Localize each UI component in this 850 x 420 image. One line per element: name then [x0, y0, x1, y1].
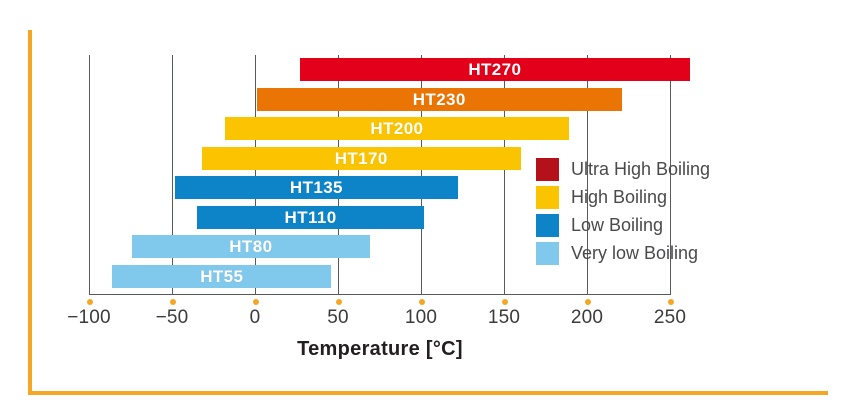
bar-ht170[interactable] [202, 147, 521, 170]
legend-label: High Boiling [571, 187, 667, 208]
legend-item[interactable]: Very low Boiling [536, 239, 710, 267]
legend-label: Ultra High Boiling [571, 159, 710, 180]
tick-label: 150 [464, 307, 544, 329]
bar-ht200[interactable] [225, 117, 569, 140]
bar-ht270[interactable] [300, 58, 690, 81]
legend-swatch [536, 186, 559, 209]
bar-ht230[interactable] [257, 88, 622, 111]
legend-item[interactable]: High Boiling [536, 183, 710, 211]
tick-label: −100 [49, 307, 129, 329]
legend-item[interactable]: Ultra High Boiling [536, 155, 710, 183]
tick-label: −50 [132, 307, 212, 329]
bar-ht80[interactable] [132, 235, 369, 258]
tick-label: 100 [381, 307, 461, 329]
tick-label: 0 [215, 307, 295, 329]
gridline [89, 55, 90, 295]
legend-label: Very low Boiling [571, 243, 698, 264]
legend: Ultra High BoilingHigh BoilingLow Boilin… [536, 155, 710, 267]
tick-dot [668, 299, 674, 305]
x-axis-line [89, 294, 671, 295]
tick-dot [170, 299, 176, 305]
x-axis-title: Temperature [°C] [89, 338, 671, 361]
legend-swatch [536, 242, 559, 265]
tick-label: 50 [298, 307, 378, 329]
tick-dot [253, 299, 259, 305]
tick-dot [502, 299, 508, 305]
legend-label: Low Boiling [571, 215, 663, 236]
legend-swatch [536, 158, 559, 181]
bar-ht55[interactable] [112, 265, 331, 288]
plot-area: HT270HT230HT200HT170HT135HT110HT80HT55 −… [0, 0, 850, 420]
legend-item[interactable]: Low Boiling [536, 211, 710, 239]
tick-dot [336, 299, 342, 305]
bar-ht135[interactable] [175, 176, 457, 199]
bar-ht110[interactable] [197, 206, 424, 229]
tick-dot [585, 299, 591, 305]
gridline [172, 55, 173, 295]
legend-swatch [536, 214, 559, 237]
tick-label: 200 [547, 307, 627, 329]
tick-label: 250 [630, 307, 710, 329]
chart-root: HT270HT230HT200HT170HT135HT110HT80HT55 −… [0, 0, 850, 420]
tick-dot [87, 299, 93, 305]
tick-dot [419, 299, 425, 305]
